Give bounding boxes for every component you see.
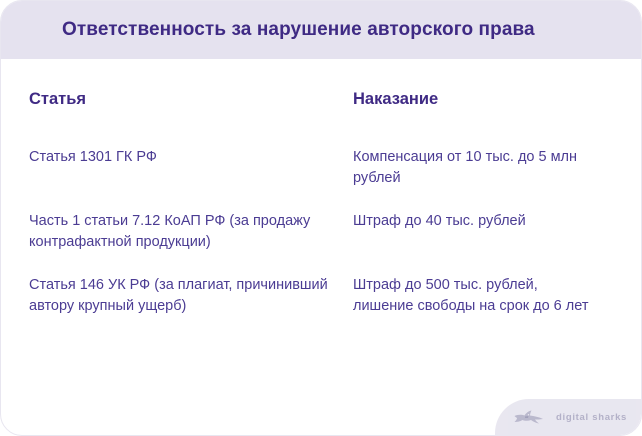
watermark-badge: digital sharks — [495, 399, 641, 435]
page-title: Ответственность за нарушение авторского … — [62, 19, 535, 41]
column-header-penalty: Наказание — [353, 89, 597, 109]
screenshot-root: Ответственность за нарушение авторского … — [0, 0, 642, 436]
cell-article: Статья 146 УК РФ (за плагиат, причинивши… — [29, 275, 333, 317]
shark-icon — [513, 408, 547, 426]
cell-penalty: Компенсация от 10 тыс. до 5 млн рублей — [353, 147, 597, 189]
table-row: Статья 146 УК РФ (за плагиат, причинивши… — [1, 275, 642, 317]
cell-penalty: Штраф до 500 тыс. рублей, лишение свобод… — [353, 275, 597, 317]
info-card: Ответственность за нарушение авторского … — [0, 0, 642, 436]
card-header: Ответственность за нарушение авторского … — [1, 1, 642, 59]
watermark-label: digital sharks — [556, 412, 627, 423]
table-row: Часть 1 статьи 7.12 КоАП РФ (за продажу … — [1, 211, 642, 253]
column-header-article: Статья — [29, 89, 333, 109]
cell-article: Статья 1301 ГК РФ — [29, 147, 333, 168]
table-header-row: Статья Наказание — [1, 89, 642, 109]
table-row: Статья 1301 ГК РФ Компенсация от 10 тыс.… — [1, 147, 642, 189]
cell-article: Часть 1 статьи 7.12 КоАП РФ (за продажу … — [29, 211, 333, 253]
cell-penalty: Штраф до 40 тыс. рублей — [353, 211, 597, 232]
responsibility-table: Статья Наказание Статья 1301 ГК РФ Компе… — [1, 59, 642, 339]
